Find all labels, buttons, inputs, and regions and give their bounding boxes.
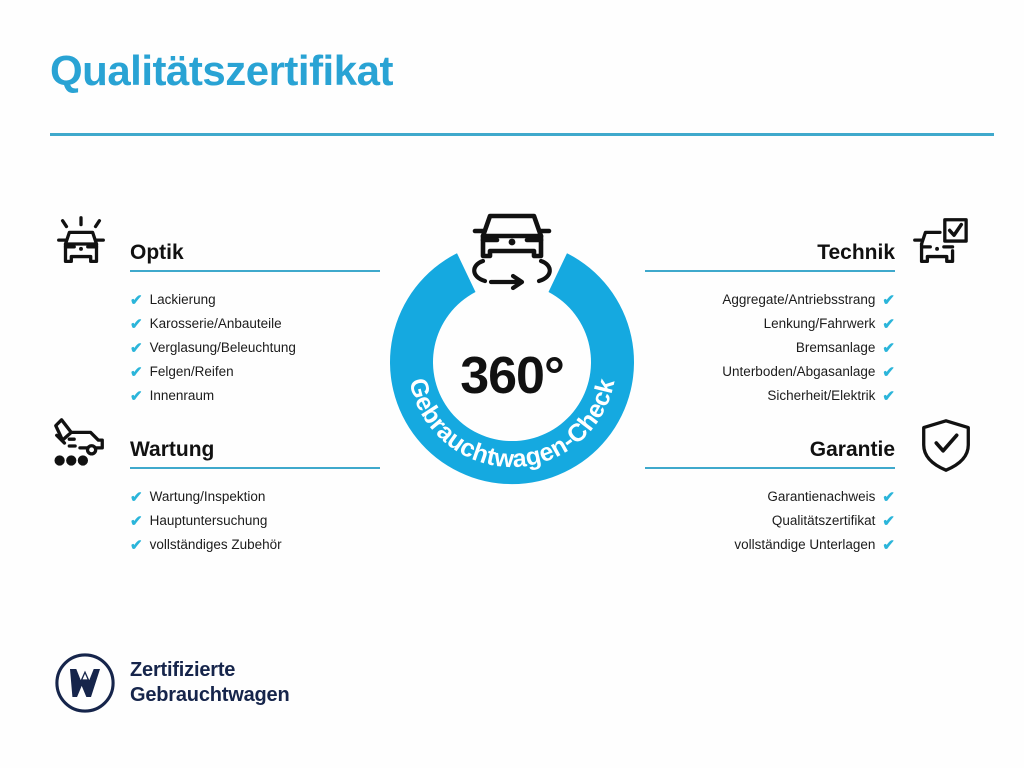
check-icon: ✔: [130, 317, 143, 332]
brand-text: Zertifizierte Gebrauchtwagen: [130, 658, 289, 708]
list-item: vollständige Unterlagen✔: [645, 533, 895, 557]
section-optik-rule: [130, 270, 380, 272]
section-technik: Technik Aggregate/Antriebsstrang✔ Lenkun…: [645, 240, 895, 408]
section-technik-rule: [645, 270, 895, 272]
list-item: ✔Lackierung: [130, 288, 380, 312]
check-icon: ✔: [130, 341, 143, 356]
header-divider: [50, 133, 994, 136]
check-icon: ✔: [882, 389, 895, 404]
list-item: ✔Hauptuntersuchung: [130, 509, 380, 533]
check-icon: ✔: [130, 538, 143, 553]
section-garantie-header: Garantie: [645, 437, 895, 471]
list-item-label: Wartung/Inspektion: [150, 485, 266, 509]
list-item-label: vollständige Unterlagen: [734, 533, 875, 557]
shield-check-icon: [915, 414, 977, 476]
list-item: ✔Karosserie/Anbauteile: [130, 312, 380, 336]
car-front-lights-icon: [50, 212, 112, 274]
page-title: Qualitätszertifikat: [50, 48, 393, 94]
list-item: Garantienachweis✔: [645, 485, 895, 509]
list-item-label: Sicherheit/Elektrik: [767, 384, 875, 408]
section-technik-title: Technik: [645, 240, 895, 266]
brand-line-1: Zertifizierte: [130, 658, 289, 683]
list-item: ✔Innenraum: [130, 384, 380, 408]
section-garantie-rule: [645, 467, 895, 469]
section-wartung-rule: [130, 467, 380, 469]
list-item: ✔Wartung/Inspektion: [130, 485, 380, 509]
vw-logo: [54, 652, 116, 714]
check-icon: ✔: [130, 365, 143, 380]
list-item-label: Lackierung: [150, 288, 216, 312]
check-icon: ✔: [882, 538, 895, 553]
list-item-label: Karosserie/Anbauteile: [150, 312, 282, 336]
section-technik-header: Technik: [645, 240, 895, 274]
list-item: ✔Verglasung/Beleuchtung: [130, 336, 380, 360]
section-technik-list: Aggregate/Antriebsstrang✔ Lenkung/Fahrwe…: [645, 288, 895, 408]
section-optik-list: ✔Lackierung ✔Karosserie/Anbauteile ✔Verg…: [130, 288, 380, 408]
pencil-car-service-icon: [48, 414, 110, 476]
list-item: Bremsanlage✔: [645, 336, 895, 360]
brand-lockup: Zertifizierte Gebrauchtwagen: [54, 652, 289, 714]
list-item-label: Innenraum: [150, 384, 215, 408]
check-icon: ✔: [130, 514, 143, 529]
section-garantie-list: Garantienachweis✔ Qualitätszertifikat✔ v…: [645, 485, 895, 557]
list-item-label: Unterboden/Abgasanlage: [722, 360, 875, 384]
check-icon: ✔: [882, 317, 895, 332]
brand-line-2: Gebrauchtwagen: [130, 683, 289, 708]
check-icon: ✔: [130, 490, 143, 505]
check-icon: ✔: [882, 365, 895, 380]
certificate-page: Qualitätszertifikat Optik ✔Lackierung ✔K…: [0, 0, 1024, 768]
list-item-label: Garantienachweis: [767, 485, 875, 509]
section-optik-header: Optik: [130, 240, 380, 274]
list-item-label: Hauptuntersuchung: [150, 509, 268, 533]
section-wartung-list: ✔Wartung/Inspektion ✔Hauptuntersuchung ✔…: [130, 485, 380, 557]
section-optik: Optik ✔Lackierung ✔Karosserie/Anbauteile…: [130, 240, 380, 408]
list-item-label: Bremsanlage: [796, 336, 876, 360]
list-item: Sicherheit/Elektrik✔: [645, 384, 895, 408]
badge-center-label: 360°: [378, 346, 646, 406]
car-rotate-icon: [461, 198, 563, 294]
section-wartung-title: Wartung: [130, 437, 380, 463]
list-item-label: Lenkung/Fahrwerk: [764, 312, 876, 336]
list-item-label: Verglasung/Beleuchtung: [150, 336, 296, 360]
check-icon: ✔: [882, 514, 895, 529]
list-item: ✔vollständiges Zubehör: [130, 533, 380, 557]
list-item: Lenkung/Fahrwerk✔: [645, 312, 895, 336]
list-item: Unterboden/Abgasanlage✔: [645, 360, 895, 384]
list-item: Qualitätszertifikat✔: [645, 509, 895, 533]
list-item-label: Qualitätszertifikat: [772, 509, 876, 533]
check-icon: ✔: [882, 341, 895, 356]
check-icon: ✔: [130, 389, 143, 404]
check-icon: ✔: [882, 490, 895, 505]
section-optik-title: Optik: [130, 240, 380, 266]
section-garantie-title: Garantie: [645, 437, 895, 463]
check-icon: ✔: [882, 293, 895, 308]
check-icon: ✔: [130, 293, 143, 308]
360-check-badge: Gebrauchtwagen-Check 360°: [378, 198, 646, 486]
list-item-label: Felgen/Reifen: [150, 360, 234, 384]
list-item-label: vollständiges Zubehör: [150, 533, 282, 557]
list-item: ✔Felgen/Reifen: [130, 360, 380, 384]
section-garantie: Garantie Garantienachweis✔ Qualitätszert…: [645, 437, 895, 557]
car-checkbox-icon: [908, 212, 970, 274]
section-wartung-header: Wartung: [130, 437, 380, 471]
section-wartung: Wartung ✔Wartung/Inspektion ✔Hauptunters…: [130, 437, 380, 557]
list-item: Aggregate/Antriebsstrang✔: [645, 288, 895, 312]
list-item-label: Aggregate/Antriebsstrang: [722, 288, 875, 312]
